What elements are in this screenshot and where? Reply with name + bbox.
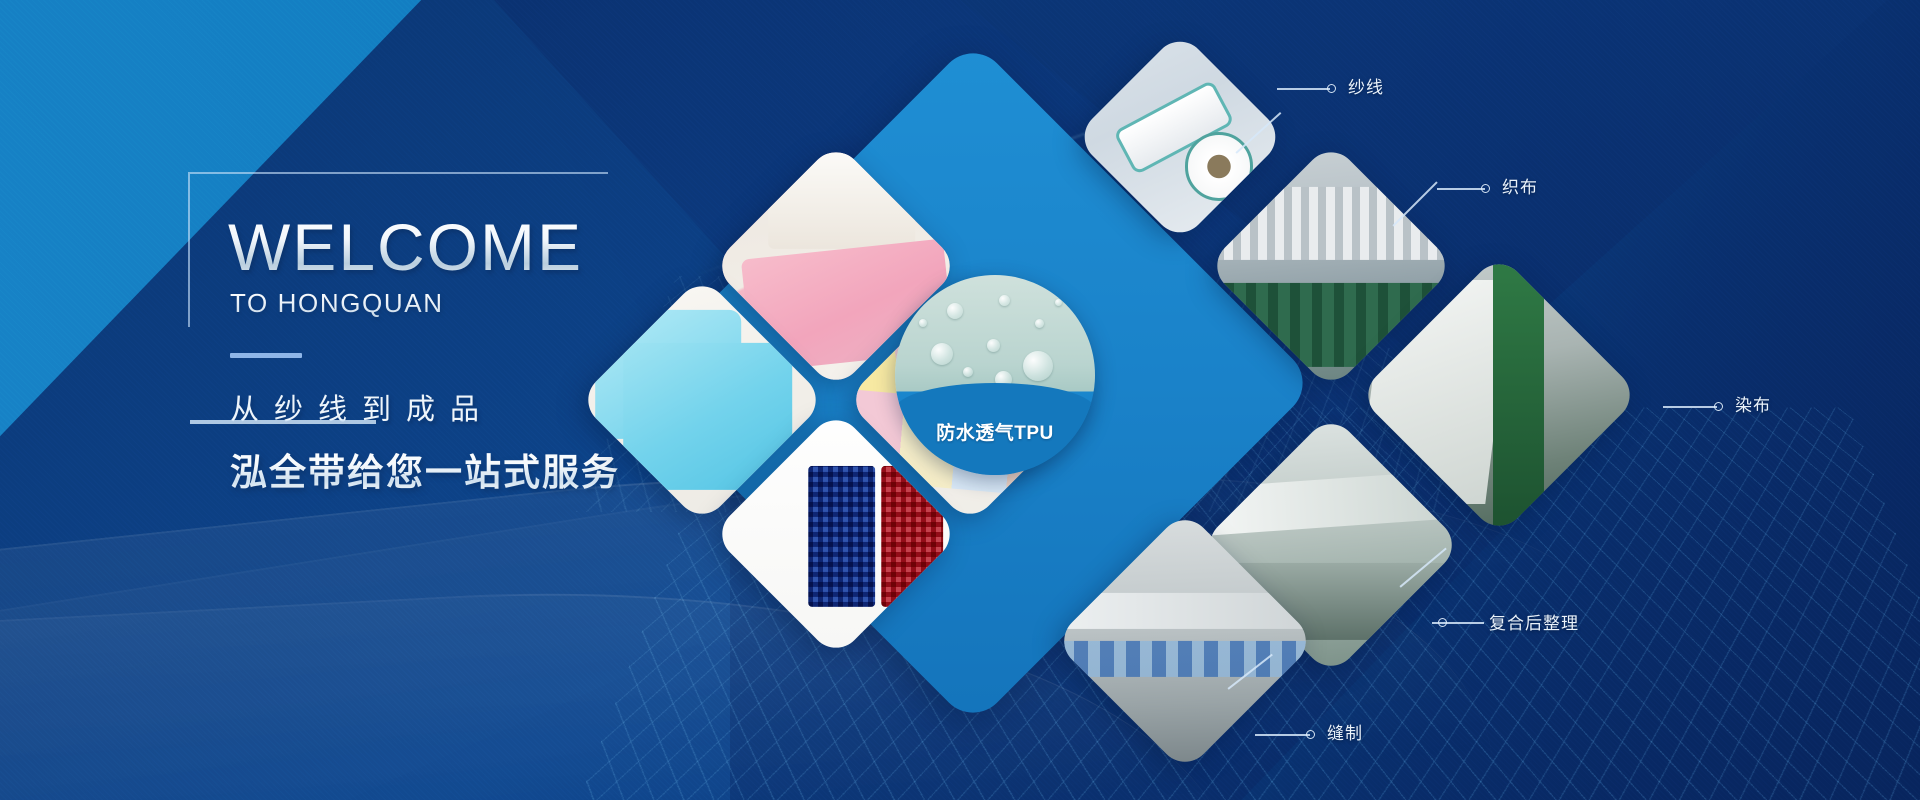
callout-leader-line [1392,181,1437,226]
callout-dot [1481,184,1490,193]
process-diagram: 防水透气TPU 纱线 [0,0,1920,800]
callout-dot [1327,84,1336,93]
callout-dot [1306,730,1315,739]
callout-dot [1438,618,1447,627]
callout-leader-line [1663,406,1717,408]
badge-label: 防水透气TPU [895,418,1095,445]
callout-leader-line [1255,734,1310,736]
callout-leader-line [1437,188,1485,190]
hero-banner: WELCOME TO HONGQUAN 从纱线到成品 泓全带给您一站式服务 [0,0,1920,800]
callout-label-weaving: 织布 [1502,173,1538,198]
callout-label-finishing: 复合后整理 [1489,609,1579,634]
callout-label-sewing: 缝制 [1327,719,1363,744]
callout-label-yarn: 纱线 [1348,73,1384,98]
callout-label-dyeing: 染布 [1735,391,1771,416]
callout-dot [1714,402,1723,411]
tpu-badge[interactable]: 防水透气TPU [895,275,1095,475]
callout-leader-line [1277,88,1330,90]
